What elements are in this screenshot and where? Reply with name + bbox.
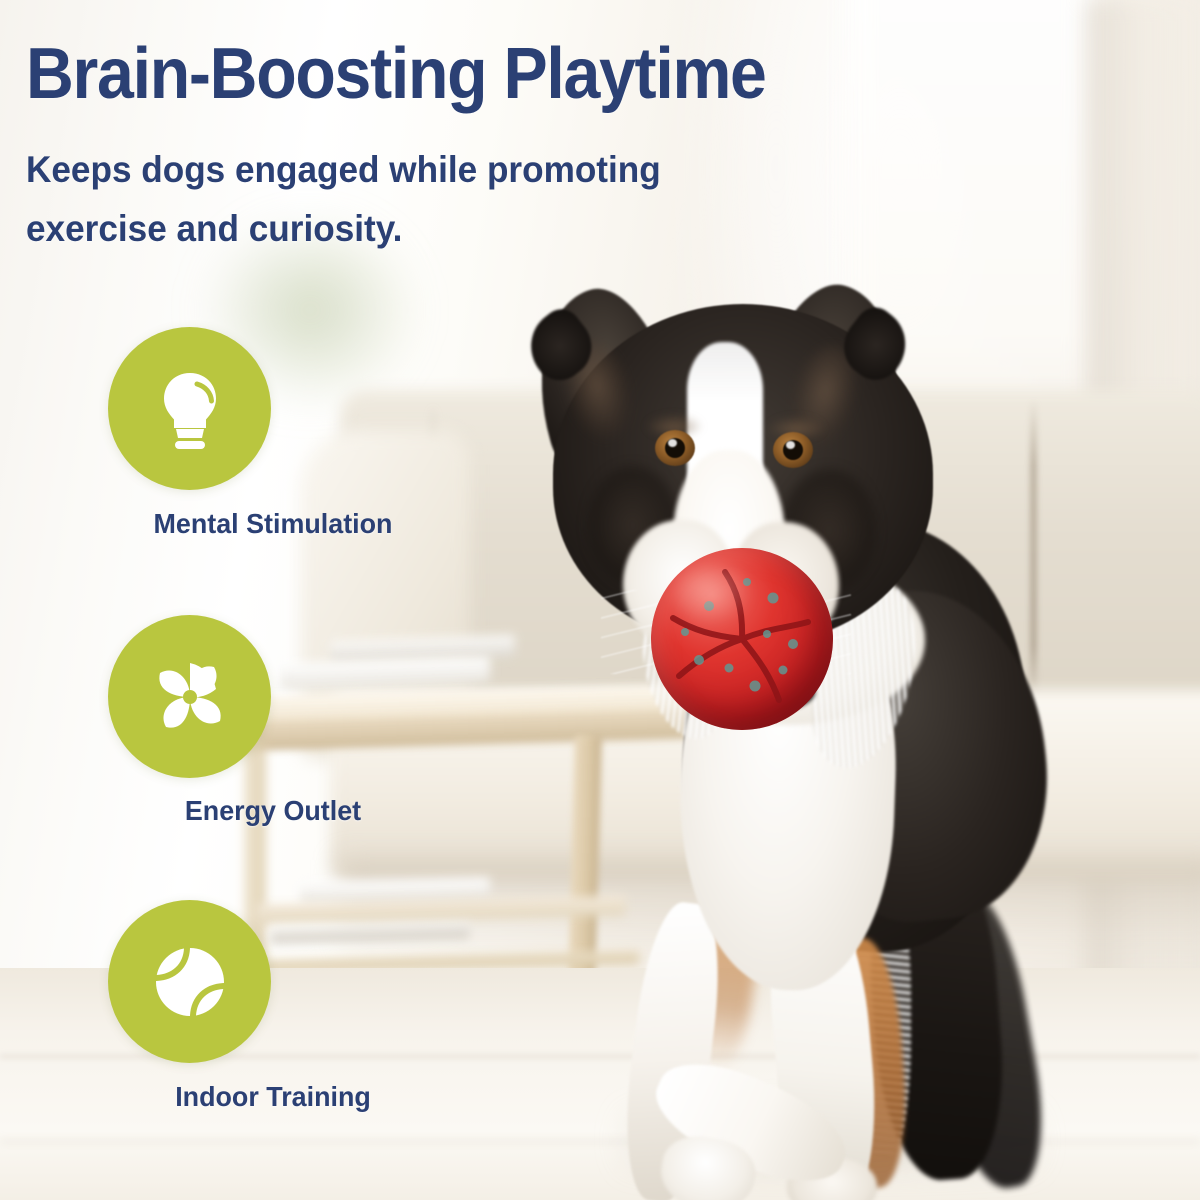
page-subtitle: Keeps dogs engaged while promoting exerc… (26, 140, 786, 258)
tennis-ball-icon (148, 940, 232, 1024)
lightbulb-icon (148, 367, 232, 451)
feature-badge-circle (108, 615, 271, 778)
feature-badge-circle (108, 327, 271, 490)
pinwheel-icon (148, 655, 232, 739)
feature-label: Energy Outlet (185, 795, 361, 827)
feature-energy-outlet[interactable]: Energy Outlet (108, 615, 438, 778)
feature-label: Indoor Training (175, 1081, 371, 1113)
feature-mental-stimulation[interactable]: Mental Stimulation (108, 327, 438, 490)
feature-indoor-training[interactable]: Indoor Training (108, 900, 438, 1063)
page-title: Brain-Boosting Playtime (26, 38, 955, 111)
banner-content-overlay: Brain-Boosting Playtime Keeps dogs engag… (0, 0, 1200, 1200)
feature-badge-circle (108, 900, 271, 1063)
feature-label: Mental Stimulation (154, 508, 393, 540)
